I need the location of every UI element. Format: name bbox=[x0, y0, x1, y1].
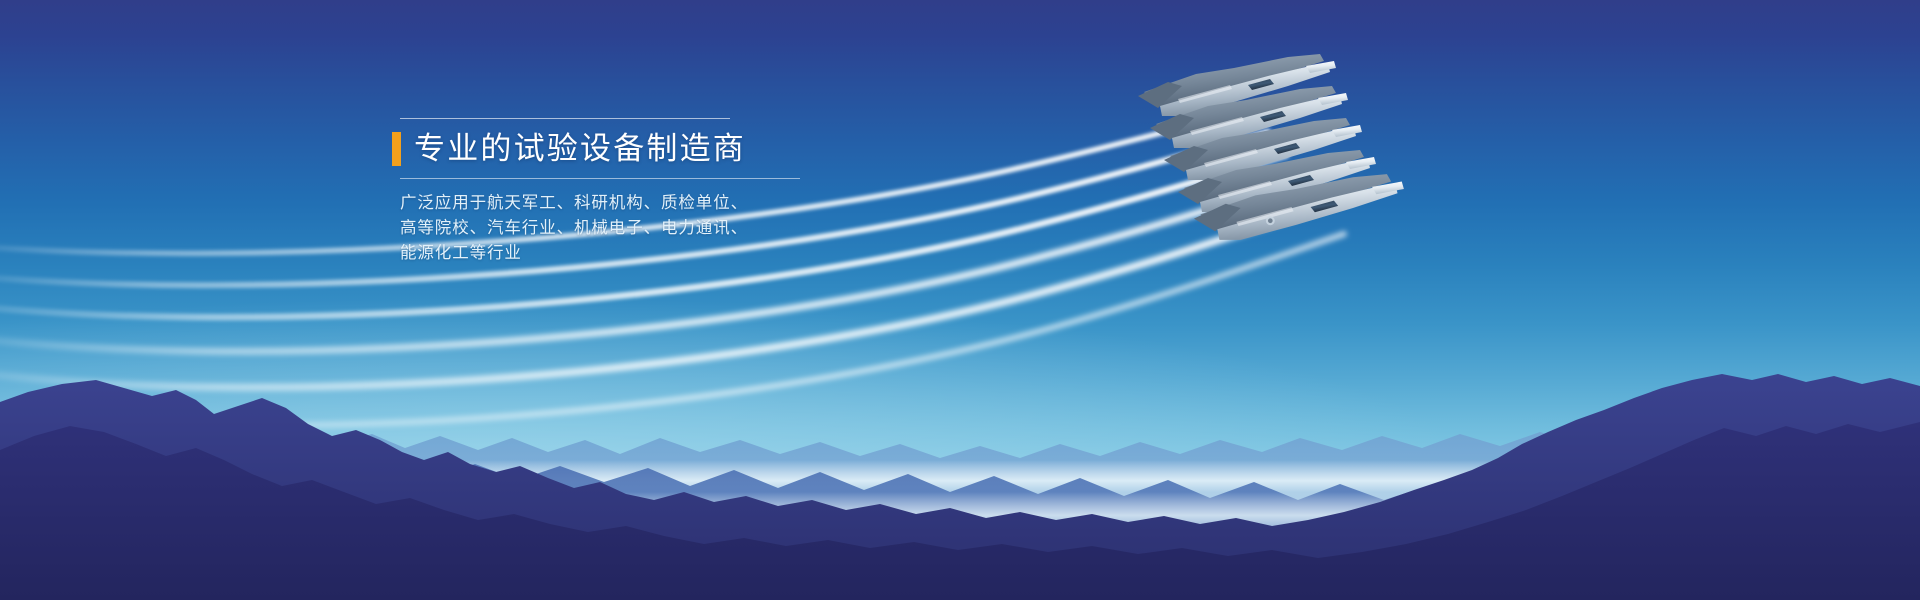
accent-bar bbox=[392, 132, 401, 166]
mountain-silhouettes bbox=[0, 340, 1920, 600]
headline-rule-top bbox=[400, 118, 730, 119]
hero-banner: 专业的试验设备制造商 广泛应用于航天军工、科研机构、质检单位、 高等院校、汽车行… bbox=[0, 0, 1920, 600]
page-title: 专业的试验设备制造商 bbox=[414, 134, 746, 165]
subtitle-line-3: 能源化工等行业 bbox=[400, 240, 812, 265]
fighter-jet-formation-icon bbox=[1120, 40, 1520, 270]
headline-row: 专业的试验设备制造商 bbox=[392, 132, 812, 166]
hero-copy-block: 专业的试验设备制造商 广泛应用于航天军工、科研机构、质检单位、 高等院校、汽车行… bbox=[392, 118, 812, 265]
subtitle-line-1: 广泛应用于航天军工、科研机构、质检单位、 bbox=[400, 190, 812, 215]
headline-rule-bottom bbox=[400, 178, 800, 179]
subtitle-line-2: 高等院校、汽车行业、机械电子、电力通讯、 bbox=[400, 215, 812, 240]
